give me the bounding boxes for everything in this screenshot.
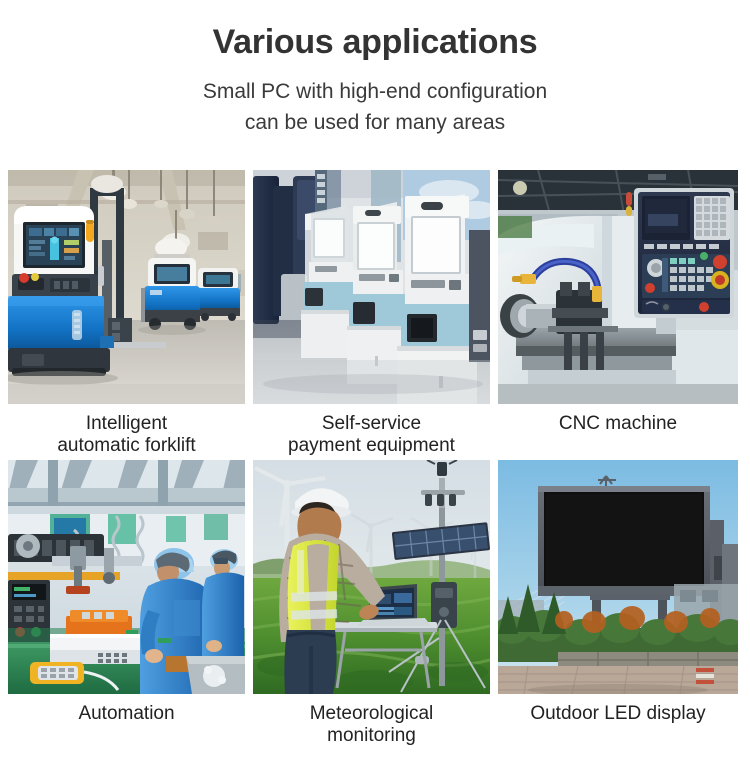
outdoor-led-photo: [498, 460, 738, 694]
meteorological-illustration: [253, 460, 490, 694]
meteorological-photo: [253, 460, 490, 694]
automation-illustration: [8, 460, 245, 694]
kiosk-illustration: [253, 170, 490, 404]
forklift-illustration: [8, 170, 245, 404]
card-caption: Intelligent automatic forklift: [8, 404, 245, 460]
application-card-automation[interactable]: Automation: [8, 460, 245, 750]
application-grid: Intelligent automatic forklift: [8, 170, 742, 750]
card-caption: Automation: [8, 694, 245, 727]
card-caption: Self-service payment equipment: [253, 404, 490, 460]
caption-line-1: Self-service: [253, 413, 490, 435]
card-caption: Meteorological monitoring: [253, 694, 490, 750]
led-display-illustration: [498, 460, 738, 694]
caption-line-2: automatic forklift: [8, 435, 245, 457]
caption-line-1: Automation: [8, 703, 245, 725]
subtitle-line-1: Small PC with high-end configuration: [0, 77, 750, 107]
automation-photo: [8, 460, 245, 694]
caption-line-1: CNC machine: [498, 413, 738, 435]
self-service-kiosk-photo: [253, 170, 490, 404]
application-showcase-page: Various applications Small PC with high-…: [0, 0, 750, 770]
caption-line-2: payment equipment: [253, 435, 490, 457]
caption-line-2: monitoring: [253, 725, 490, 747]
forklift-photo: [8, 170, 245, 404]
application-card-meteorological-monitoring[interactable]: Meteorological monitoring: [253, 460, 490, 750]
application-card-outdoor-led-display[interactable]: Outdoor LED display: [498, 460, 738, 750]
cnc-machine-photo: [498, 170, 738, 404]
caption-line-1: Outdoor LED display: [498, 703, 738, 725]
cnc-illustration: [498, 170, 738, 404]
caption-line-1: Intelligent: [8, 413, 245, 435]
application-card-cnc-machine[interactable]: CNC machine: [498, 170, 738, 460]
page-header: Various applications Small PC with high-…: [0, 0, 750, 138]
subtitle-line-2: can be used for many areas: [0, 108, 750, 138]
application-card-forklift[interactable]: Intelligent automatic forklift: [8, 170, 245, 460]
card-caption: Outdoor LED display: [498, 694, 738, 727]
page-subtitle: Small PC with high-end configuration can…: [0, 77, 750, 138]
application-card-self-service-payment[interactable]: Self-service payment equipment: [253, 170, 490, 460]
card-caption: CNC machine: [498, 404, 738, 437]
caption-line-1: Meteorological: [253, 703, 490, 725]
page-title: Various applications: [0, 24, 750, 61]
